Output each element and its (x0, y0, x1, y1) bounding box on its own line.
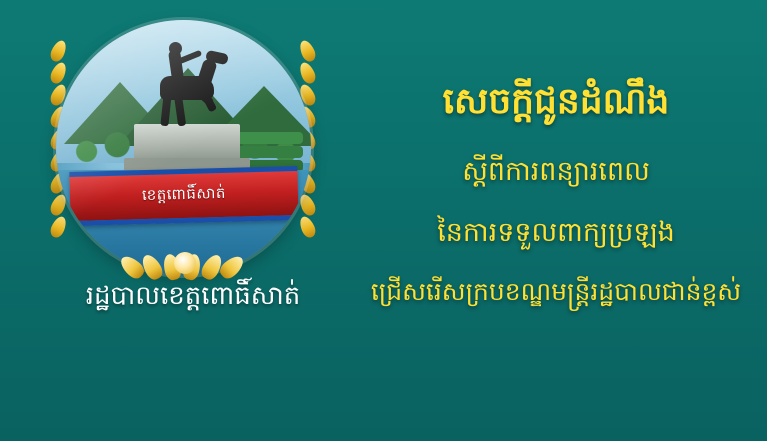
horse-neck (196, 58, 217, 87)
statue-plinth (134, 124, 240, 170)
terrace-tier-1 (229, 132, 303, 144)
rider-head (169, 42, 182, 55)
announcement-line-1: សេចក្តីជូនដំណឹង (350, 78, 762, 131)
announcement-line-3: នៃការទទួលពាក្យប្រឡង (350, 216, 762, 255)
provincial-emblem: ខេត្តពោធិ៍សាត់ រដ្ឋបាលខេត្តពោធិ៍សាត់ (18, 8, 348, 338)
emblem-seal: ខេត្តពោធិ៍សាត់ (56, 20, 311, 275)
seal-banner: ខេត្តពោធិ៍សាត់ (69, 166, 298, 226)
announcement-line-4: ជ្រើសរើសក្របខណ្ឌមន្ត្រីរដ្ឋបាលជាន់ខ្ពស់ (350, 277, 762, 313)
lotus-icon (122, 246, 248, 280)
lotus-center (174, 252, 196, 274)
announcement-line-2: ស្តីពីការពន្យារពេល (350, 155, 762, 194)
lotus-petal-2 (139, 252, 166, 283)
rider-arm (178, 50, 203, 65)
seal-banner-text: ខេត្តពោធិ៍សាត់ (142, 184, 226, 208)
lotus-petal-6 (217, 252, 247, 281)
announcement-poster: ខេត្តពោធិ៍សាត់ រដ្ឋបាលខេត្តពោធិ៍សាត់ សេច… (0, 0, 767, 441)
announcement-text: សេចក្តីជូនដំណឹង ស្តីពីការពន្យារពេល នៃការ… (350, 78, 762, 313)
emblem-caption: រដ្ឋបាលខេត្តពោធិ៍សាត់ (18, 280, 368, 314)
equestrian-statue-icon (142, 42, 232, 128)
